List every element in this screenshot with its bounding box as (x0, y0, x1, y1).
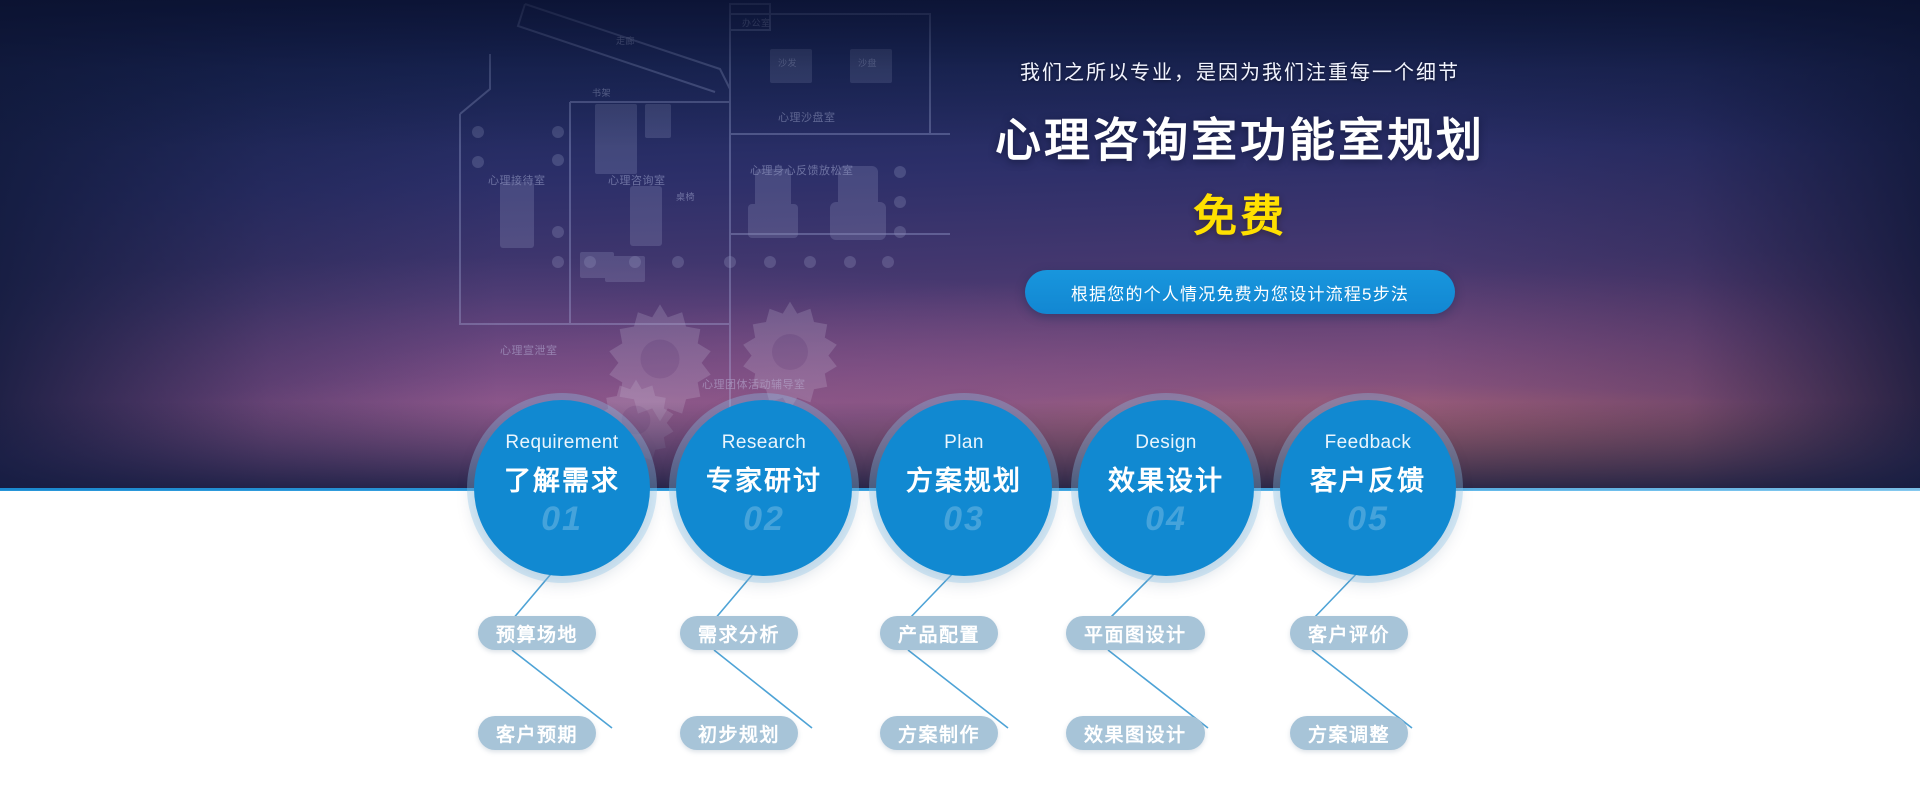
step-tag-top[interactable]: 客户评价 (1290, 616, 1408, 650)
step-tag-bottom[interactable]: 方案制作 (880, 716, 998, 750)
step-tag-bottom[interactable]: 初步规划 (680, 716, 798, 750)
step-tag-top[interactable]: 产品配置 (880, 616, 998, 650)
step-number: 05 (1347, 500, 1389, 539)
step-number: 04 (1145, 500, 1187, 539)
step-number: 03 (943, 500, 985, 539)
step-node-5[interactable]: Feedback 客户反馈 05 (1280, 400, 1456, 576)
step-en-label: Feedback (1325, 432, 1412, 454)
step-node-4[interactable]: Design 效果设计 04 (1078, 400, 1254, 576)
step-node-3[interactable]: Plan 方案规划 03 (876, 400, 1052, 576)
step-tag-top[interactable]: 预算场地 (478, 616, 596, 650)
step-tag-top[interactable]: 平面图设计 (1066, 616, 1205, 650)
step-cn-label: 效果设计 (1108, 459, 1224, 498)
promo-banner: 心理沙盘室 心理身心反馈放松室 心理咨询室 心理接待室 心理宣泄室 心理团体活动… (0, 0, 1920, 810)
step-en-label: Design (1135, 432, 1197, 454)
step-tag-bottom[interactable]: 客户预期 (478, 716, 596, 750)
step-node-1[interactable]: Requirement 了解需求 01 (474, 400, 650, 576)
step-tag-bottom[interactable]: 效果图设计 (1066, 716, 1205, 750)
step-en-label: Requirement (505, 432, 618, 454)
step-cn-label: 方案规划 (906, 459, 1022, 498)
step-node-2[interactable]: Research 专家研讨 02 (676, 400, 852, 576)
process-flow: Requirement 了解需求 01 Research 专家研讨 02 Pla… (0, 0, 1920, 810)
step-en-label: Research (722, 432, 807, 454)
step-number: 01 (541, 500, 583, 539)
step-cn-label: 了解需求 (504, 459, 620, 498)
step-en-label: Plan (944, 432, 984, 454)
step-tag-bottom[interactable]: 方案调整 (1290, 716, 1408, 750)
step-cn-label: 专家研讨 (706, 459, 822, 498)
step-cn-label: 客户反馈 (1310, 459, 1426, 498)
step-number: 02 (743, 500, 785, 539)
step-tag-top[interactable]: 需求分析 (680, 616, 798, 650)
